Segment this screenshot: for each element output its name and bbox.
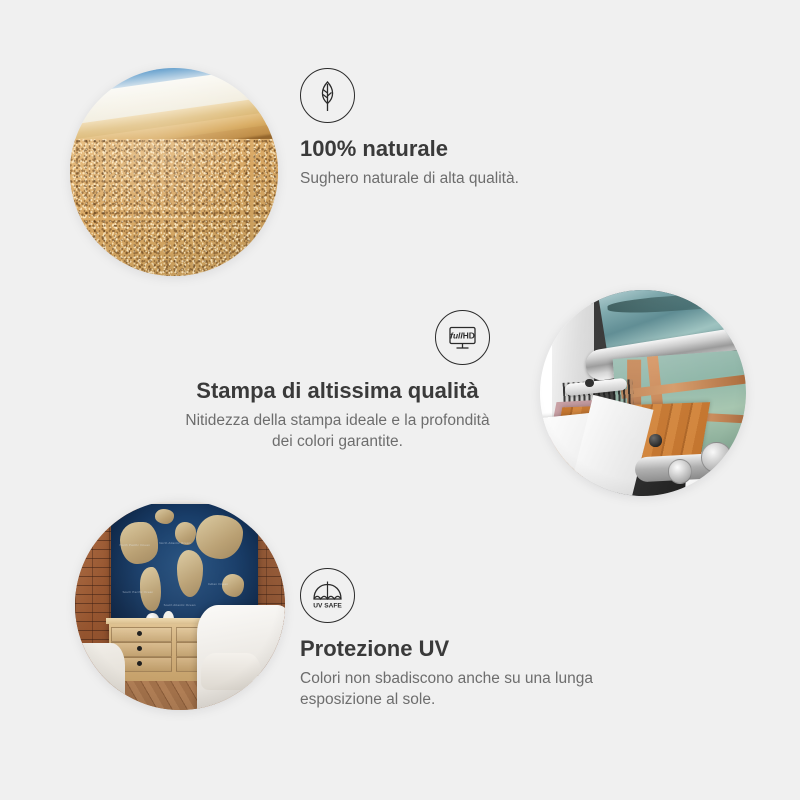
feature-uv-title: Protezione UV <box>300 636 660 662</box>
feature-natural-description: Sughero naturale di alta qualità. <box>300 168 519 189</box>
leaf-icon <box>300 68 355 123</box>
room-photo-vignette <box>75 500 285 710</box>
feature-uv-icon-wrap: UV SAFE <box>300 568 660 623</box>
interior-world-map-photo: North Pacific Ocean North Atlantic Ocean… <box>75 500 285 710</box>
feature-natural-icon-wrap <box>300 68 519 123</box>
uv-safe-umbrella-icon: UV SAFE <box>300 568 355 623</box>
svg-text:UV SAFE: UV SAFE <box>313 603 342 610</box>
feature-print-quality: fullHD Stampa di altissima qualità Nitid… <box>185 310 490 452</box>
feature-banner-page: 100% naturale Sughero naturale di alta q… <box>0 0 800 800</box>
print-photo-vignette <box>540 290 746 496</box>
feature-print-icon-wrap: fullHD <box>185 310 490 365</box>
feature-uv-protection: UV SAFE Protezione UV Colori non sbadisc… <box>300 568 660 710</box>
cork-photo-vignette <box>70 68 278 276</box>
feature-print-description: Nitidezza della stampa ideale e la profo… <box>185 410 490 452</box>
fullhd-monitor-icon: fullHD <box>435 310 490 365</box>
feature-natural-title: 100% naturale <box>300 136 519 162</box>
svg-text:fullHD: fullHD <box>450 330 475 340</box>
feature-uv-description: Colori non sbadiscono anche su una lunga… <box>300 668 660 710</box>
feature-print-title: Stampa di altissima qualità <box>185 378 490 404</box>
cork-board-closeup-photo <box>70 68 278 276</box>
feature-natural: 100% naturale Sughero naturale di alta q… <box>300 68 519 189</box>
printing-machine-photo <box>540 290 746 496</box>
